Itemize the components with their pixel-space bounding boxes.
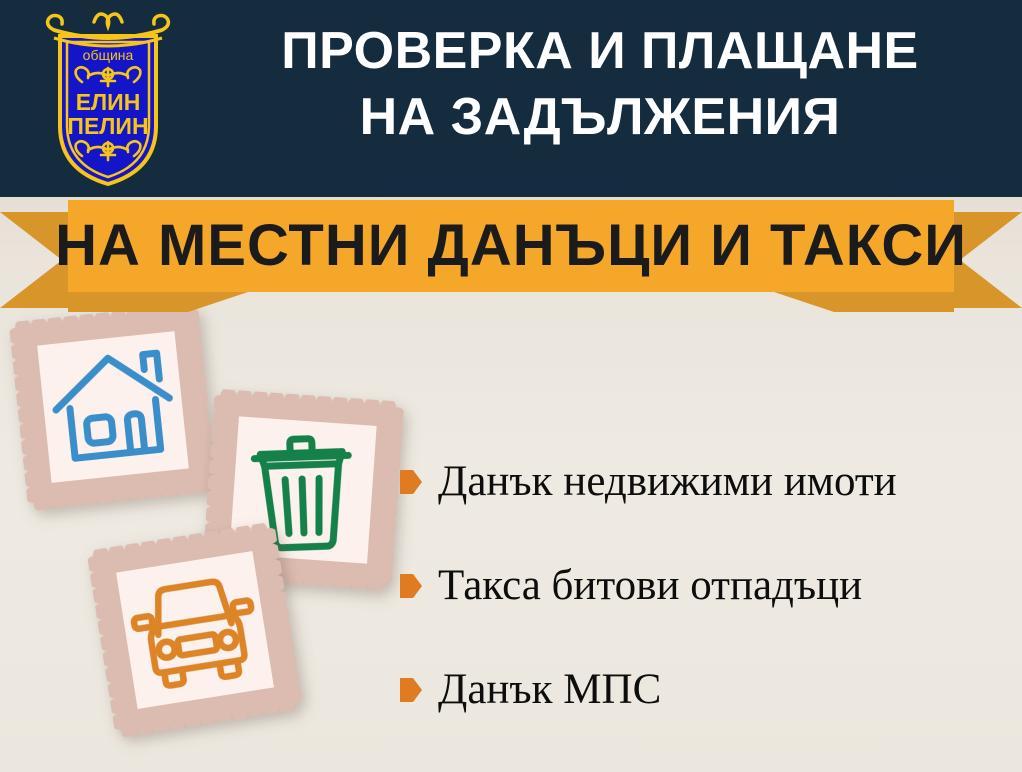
page-title: ПРОВЕРКА И ПЛАЩАНЕ НА ЗАДЪЛЖЕНИЯ (190, 18, 1010, 150)
tax-list-item-label: Данък недвижими имоти (438, 457, 897, 507)
ribbon-subtitle: НА МЕСТНИ ДАНЪЦИ И ТАКСИ (55, 217, 967, 275)
page-title-line-1: ПРОВЕРКА И ПЛАЩАНЕ (190, 18, 1010, 84)
stamp-card-vehicle (86, 521, 303, 738)
tax-list-item-property[interactable]: Данък недвижими имоти (400, 430, 1010, 534)
municipality-crest: община ЕЛИН ПЕЛИН (42, 8, 174, 190)
ribbon-main-band: НА МЕСТНИ ДАНЪЦИ И ТАКСИ (68, 200, 954, 292)
crest-top-label: община (83, 47, 134, 63)
crest-name-line1: ЕЛИН (76, 89, 141, 115)
tax-list-item-waste[interactable]: Такса битови отпадъци (400, 534, 1010, 638)
page-title-line-2: НА ЗАДЪЛЖЕНИЯ (190, 84, 1010, 150)
ribbon-banner: НА МЕСТНИ ДАНЪЦИ И ТАКСИ (0, 196, 1022, 316)
header-bar: община ЕЛИН ПЕЛИН ПРОВЕРКА И ПЛАЩАНЕ НА … (0, 0, 1022, 197)
stamp-card-property (9, 303, 218, 512)
bullet-arrow-icon (400, 678, 422, 702)
tax-list-item-vehicle[interactable]: Данък МПС (400, 638, 1010, 742)
tax-list: Данък недвижими имоти Такса битови отпад… (400, 430, 1010, 742)
ribbon-fold-left (68, 292, 248, 312)
poster-canvas: община ЕЛИН ПЕЛИН ПРОВЕРКА И ПЛАЩАНЕ НА … (0, 0, 1022, 772)
bullet-arrow-icon (400, 574, 422, 598)
bullet-arrow-icon (400, 470, 422, 494)
tax-list-item-label: Данък МПС (438, 665, 661, 715)
crest-name-line2: ПЕЛИН (67, 113, 148, 139)
tax-list-item-label: Такса битови отпадъци (438, 561, 862, 611)
ribbon-fold-right (774, 292, 954, 312)
